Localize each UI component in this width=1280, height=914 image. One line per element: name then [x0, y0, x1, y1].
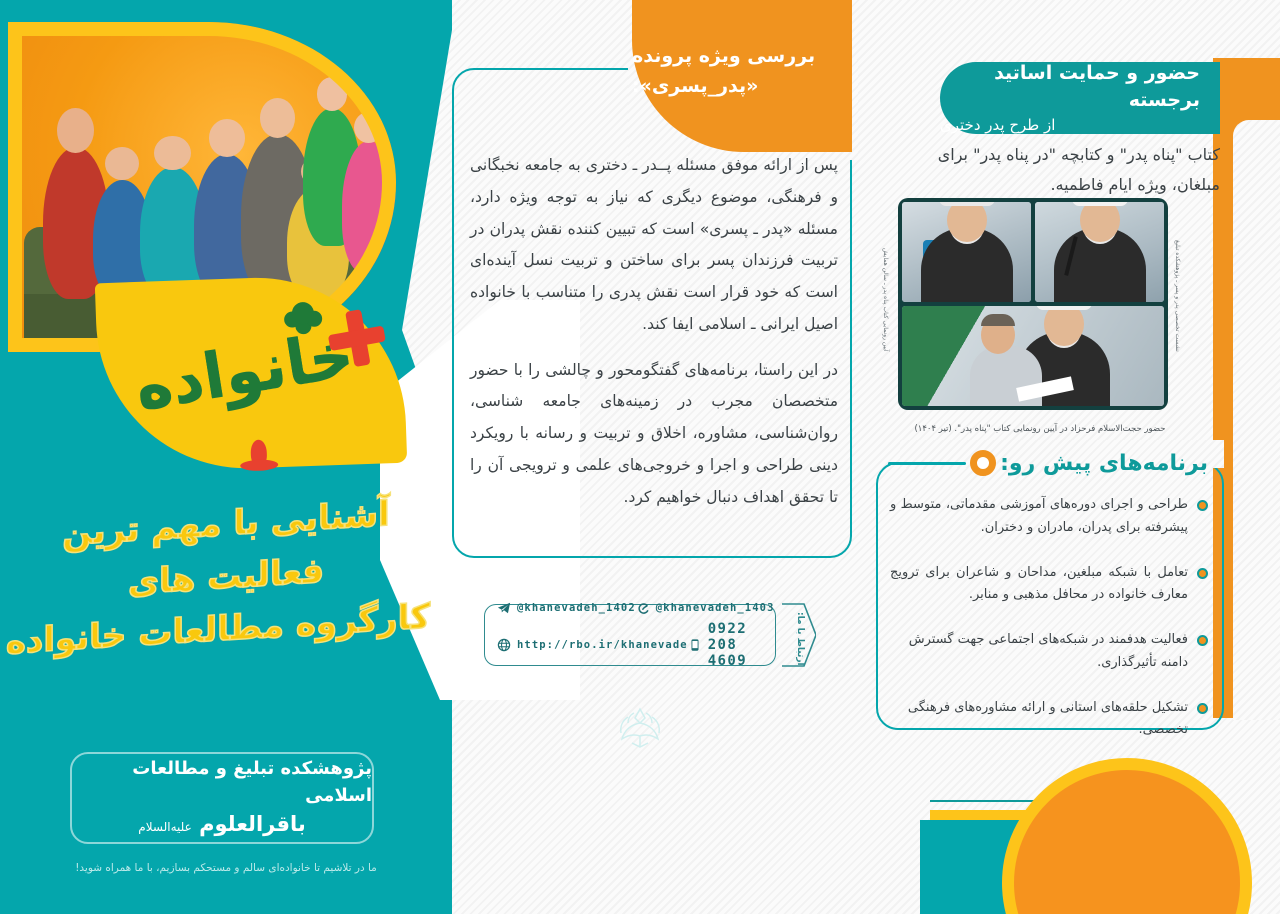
footer-tagline: ما در تلاشیم تا خانواده‌ای سالم و مستحکم…	[0, 862, 452, 874]
special-case-tab-line-1: بررسی ویژه پرونده	[632, 41, 815, 71]
logo-wordmark: خانواده	[130, 317, 359, 423]
bullet-icon	[1197, 703, 1208, 714]
middle-paragraph: در این راستا، برنامه‌های گفتگومحور و چال…	[470, 355, 838, 514]
middle-paragraph: پس از ارائه موفق مسئله پــدر ـ دختری به …	[470, 150, 838, 341]
list-item: تشکیل حلقه‌های استانی و ارائه مشاوره‌های…	[890, 697, 1208, 743]
left-headline: آشنایی با مهم ترین فعالیت های کارگروه مط…	[0, 498, 452, 656]
mobile-icon	[688, 638, 702, 652]
contact-box: @khanevadeh_1402 @khanevadeh_1403 http:/…	[484, 604, 776, 666]
programs-header: برنامه‌های پیش رو:	[884, 446, 1220, 480]
contact-telegram-value: @khanevadeh_1402	[517, 602, 636, 614]
eitaa-icon	[636, 601, 650, 615]
contact-row: @khanevadeh_1402 @khanevadeh_1403	[497, 601, 763, 615]
ring-marker-icon	[970, 450, 996, 476]
brochure-page: خانواده آشنایی با مهم ترین فعالیت های کا…	[0, 0, 1280, 914]
program-text: تشکیل حلقه‌های استانی و ارائه مشاوره‌های…	[890, 697, 1188, 743]
collage-side-label-left: آیین رونمایی کتاب پناه پدر ـ سالن همایش	[880, 202, 890, 352]
contact-eitaa[interactable]: @khanevadeh_1403	[636, 601, 775, 615]
middle-body-text: پس از ارائه موفق مسئله پــدر ـ دختری به …	[470, 150, 838, 527]
institute-line-1: پژوهشکده تبلیغ و مطالعات اسلامی	[72, 755, 372, 809]
contact-website[interactable]: http://rbo.ir/khanevade	[497, 638, 688, 652]
photo-book-handover	[902, 306, 1164, 406]
programs-list: طراحی و اجرای دوره‌های آموزشی مقدماتی، م…	[890, 494, 1208, 764]
programs-title: برنامه‌های پیش رو:	[1000, 451, 1220, 476]
right-header-badge: حضور و حمایت اساتید برجسته از طرح پدر دخ…	[940, 62, 1220, 134]
list-item: تعامل با شبکه مبلغین، مداحان و شاعران بر…	[890, 562, 1208, 608]
globe-icon	[497, 638, 511, 652]
teardrop-icon	[250, 440, 267, 467]
collage-side-label-right: نشست تخصصی پدر و پسر ـ پژوهشکده تبلیغ	[1172, 202, 1182, 352]
photo-cleric-seated	[902, 202, 1031, 302]
institute-line-2: باقرالعلوم علیه‌السلام	[138, 809, 305, 841]
contact-phone-value: 0922 208 4609	[708, 621, 763, 669]
special-case-tab-line-2: «پدر_پسری»:	[632, 71, 758, 101]
program-text: فعالیت هدفمند در شبکه‌های اجتماعی جهت گس…	[890, 629, 1188, 675]
institute-name-box: پژوهشکده تبلیغ و مطالعات اسلامی باقرالعل…	[70, 752, 374, 844]
header-rule	[888, 462, 966, 465]
right-intro-text: کتاب "پناه پدر" و کتابچه "در پناه پدر" ب…	[900, 140, 1220, 199]
contact-phone[interactable]: 0922 208 4609	[688, 621, 763, 669]
right-header-line-1: حضور و حمایت اساتید برجسته	[940, 60, 1200, 115]
institute-name-main: باقرالعلوم	[199, 812, 306, 836]
bullet-icon	[1197, 635, 1208, 646]
right-header-line-2: از طرح پدر دختری	[940, 115, 1055, 137]
photo-cleric-speaking	[1035, 202, 1164, 302]
photo-collage	[898, 198, 1168, 410]
contact-telegram[interactable]: @khanevadeh_1402	[497, 601, 636, 615]
contact-row: http://rbo.ir/khanevade 0922 208 4609	[497, 621, 763, 669]
bullet-icon	[1197, 500, 1208, 511]
contact-vertical-label: ارتباط با ما:	[795, 604, 805, 666]
bullet-icon	[1197, 568, 1208, 579]
telegram-icon	[497, 601, 511, 615]
program-text: طراحی و اجرای دوره‌های آموزشی مقدماتی، م…	[890, 494, 1188, 540]
corner-teal-line	[930, 800, 1040, 802]
contact-eitaa-value: @khanevadeh_1403	[656, 602, 775, 614]
list-item: فعالیت هدفمند در شبکه‌های اجتماعی جهت گس…	[890, 629, 1208, 675]
plus-icon	[324, 306, 389, 371]
corner-circle-decoration	[1002, 758, 1252, 914]
contact-website-value: http://rbo.ir/khanevade	[517, 639, 688, 651]
list-item: طراحی و اجرای دوره‌های آموزشی مقدماتی، م…	[890, 494, 1208, 540]
program-text: تعامل با شبکه مبلغین، مداحان و شاعران بر…	[890, 562, 1188, 608]
clover-icon	[292, 302, 315, 325]
institute-name-honorific: علیه‌السلام	[138, 820, 191, 834]
right-accent-cut	[1233, 120, 1280, 720]
institute-emblem-icon	[608, 705, 672, 751]
collage-caption: حضور حجت‌الاسلام فرحزاد در آیین رونمایی …	[890, 424, 1190, 434]
